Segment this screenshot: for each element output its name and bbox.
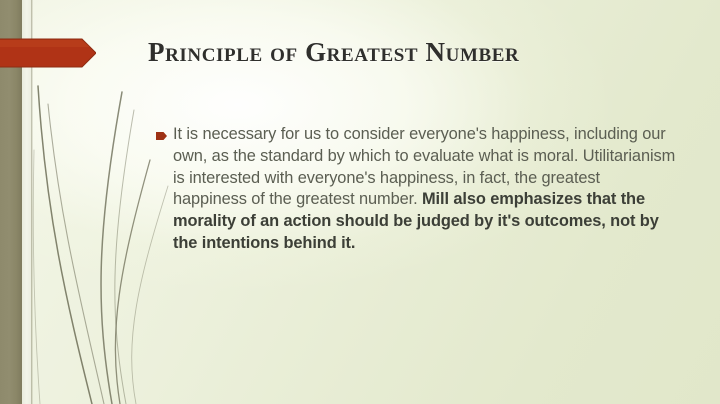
left-olive-stripe [0, 0, 22, 404]
bullet-paragraph: It is necessary for us to consider every… [173, 124, 676, 255]
red-arrow-bullet-icon [156, 132, 167, 140]
red-arrow-banner-icon [0, 38, 96, 68]
list-item: It is necessary for us to consider every… [156, 124, 676, 255]
page-title: Principle of Greatest Number [148, 38, 688, 68]
left-light-stripe [22, 0, 31, 404]
body-content: It is necessary for us to consider every… [156, 124, 676, 255]
left-hairline-stripe [31, 0, 33, 404]
slide-canvas: Principle of Greatest Number It is neces… [0, 0, 720, 404]
